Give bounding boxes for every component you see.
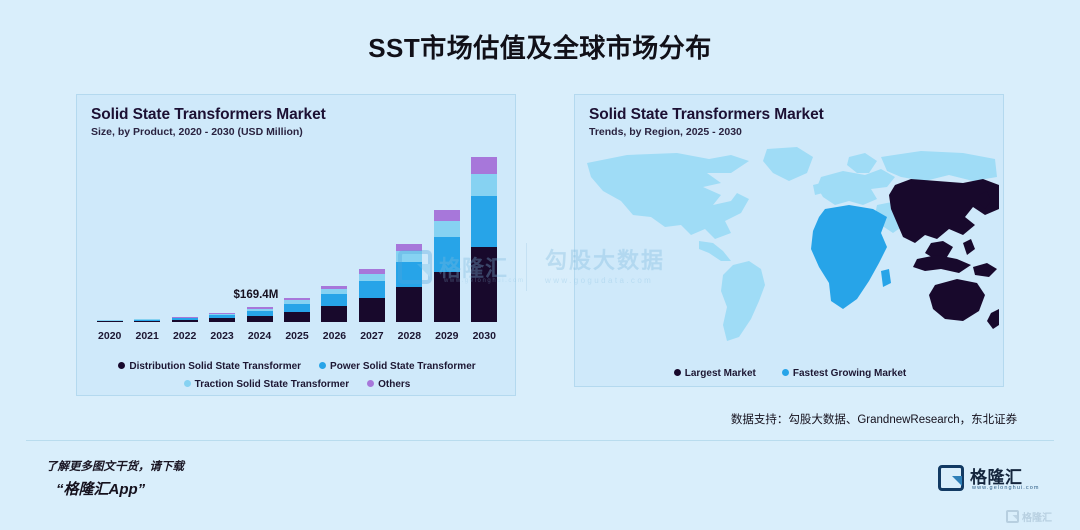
gelonghui-logo-icon <box>938 465 964 491</box>
legend-item: Largest Market <box>674 368 756 379</box>
map-region-scandinavia <box>847 153 877 173</box>
data-source-attribution: 数据支持：勾股大数据、GrandnewResearch，东北证券 <box>700 411 1048 427</box>
x-axis-tick-label: 2029 <box>430 330 464 342</box>
bar-segment <box>172 320 198 322</box>
bar-segment <box>209 318 235 322</box>
bar-column: 2028 <box>396 151 422 322</box>
bar-segment <box>434 272 460 322</box>
bar-segment <box>396 287 422 322</box>
x-axis-tick-label: 2022 <box>168 330 202 342</box>
legend-item-label: Traction Solid State Transformer <box>195 379 349 390</box>
bar-segment <box>284 312 310 322</box>
bar-column: 2022 <box>172 151 198 322</box>
legend-dot-icon <box>674 369 681 376</box>
x-axis-tick-label: 2021 <box>130 330 164 342</box>
map-region-indonesia <box>913 255 971 273</box>
bar-segment <box>471 196 497 246</box>
right-chart-title: Solid State Transformers Market <box>589 106 824 124</box>
bar-column: 2026 <box>321 151 347 322</box>
bar-segment <box>434 237 460 272</box>
x-axis-tick-label: 2020 <box>93 330 127 342</box>
map-region-new-zealand <box>987 309 999 329</box>
right-map-panel: Solid State Transformers Market Trends, … <box>574 94 1004 387</box>
bar-segment <box>434 221 460 236</box>
map-region-madagascar <box>881 269 891 287</box>
x-axis-tick-label: 2028 <box>392 330 426 342</box>
legend-dot-icon <box>319 362 326 369</box>
bar-column: 2025 <box>284 151 310 322</box>
left-chart-panel: Solid State Transformers Market Size, by… <box>76 94 516 396</box>
bar-segment <box>396 262 422 287</box>
map-region-russia <box>881 151 997 181</box>
bar-segment <box>471 174 497 196</box>
value-callout-label: $169.4M <box>234 289 279 301</box>
bar-stack <box>359 269 385 322</box>
left-chart-title: Solid State Transformers Market <box>91 106 326 124</box>
bar-stack <box>471 157 497 322</box>
gelonghui-logo-icon <box>1006 510 1019 523</box>
legend-dot-icon <box>367 380 374 387</box>
bar-stack <box>434 210 460 322</box>
legend-item-label: Largest Market <box>685 368 756 379</box>
bar-segment <box>471 157 497 174</box>
legend-item: Fastest Growing Market <box>782 368 906 379</box>
map-region-papua-new-guinea <box>973 263 997 277</box>
map-legend: Largest MarketFastest Growing Market <box>575 363 1005 381</box>
x-axis-tick-label: 2025 <box>280 330 314 342</box>
bar-column: 2029 <box>434 151 460 322</box>
bar-stack <box>247 307 273 322</box>
bar-column: 2027 <box>359 151 385 322</box>
bar-column: 2023 <box>209 151 235 322</box>
legend-item-label: Others <box>378 379 410 390</box>
bar-segment <box>359 298 385 322</box>
map-region-central-america <box>699 241 731 261</box>
map-region-australia <box>929 279 985 321</box>
bar-segment <box>97 321 123 322</box>
stacked-bar-chart: 2020202120222023202420252026202720282029… <box>91 151 503 344</box>
bar-segment <box>134 321 160 322</box>
page-title: SST市场估值及全球市场分布 <box>0 28 1080 65</box>
bar-stack <box>396 244 422 322</box>
bar-segment <box>434 210 460 221</box>
bar-segment <box>359 281 385 298</box>
map-region-greenland <box>763 147 813 181</box>
bar-stack <box>172 317 198 322</box>
footer-divider <box>26 440 1054 441</box>
bar-stack <box>321 286 347 322</box>
bar-segment <box>284 304 310 312</box>
x-axis-tick-label: 2023 <box>205 330 239 342</box>
watermark-divider <box>526 243 527 291</box>
map-region-africa <box>811 205 887 309</box>
footer-app-name: “格隆汇App” <box>56 478 145 499</box>
bar-segment <box>321 306 347 322</box>
legend-item-label: Distribution Solid State Transformer <box>129 361 301 372</box>
bar-segment <box>359 274 385 281</box>
bar-segment <box>247 316 273 322</box>
bar-column: 2021 <box>134 151 160 322</box>
brand-logo: 格隆汇 www.gelonghui.com <box>938 460 1050 496</box>
legend-item-label: Fastest Growing Market <box>793 368 906 379</box>
bar-column: 2020 <box>97 151 123 322</box>
legend-item: Traction Solid State Transformer <box>184 377 349 393</box>
x-axis-tick-label: 2024 <box>243 330 277 342</box>
bar-stack <box>209 313 235 322</box>
bar-column: 2030 <box>471 151 497 322</box>
map-region-north-america <box>587 153 749 239</box>
map-region-europe <box>817 169 895 205</box>
world-map-svg <box>581 143 999 343</box>
bar-segment <box>471 247 497 322</box>
legend-dot-icon <box>184 380 191 387</box>
world-map <box>581 143 999 343</box>
legend-item: Distribution Solid State Transformer <box>118 359 301 375</box>
bar-segment <box>321 294 347 306</box>
x-axis-tick-label: 2027 <box>355 330 389 342</box>
map-region-asia <box>889 179 999 243</box>
footer-promo-line: 了解更多图文干货，请下载 <box>46 458 184 474</box>
x-axis-tick-label: 2030 <box>467 330 501 342</box>
corner-watermark-name: 格隆汇 <box>1022 509 1052 524</box>
bar-segment <box>396 251 422 262</box>
bar-stack <box>134 319 160 322</box>
slide-canvas: SST市场估值及全球市场分布 Solid State Transformers … <box>0 0 1080 530</box>
brand-logo-url: www.gelonghui.com <box>972 485 1040 491</box>
bar-chart-legend: Distribution Solid State TransformerPowe… <box>77 357 517 393</box>
legend-dot-icon <box>118 362 125 369</box>
map-region-south-america <box>721 261 765 341</box>
corner-watermark: 格隆汇 <box>1006 505 1076 527</box>
legend-item: Power Solid State Transformer <box>319 359 476 375</box>
bar-stack <box>97 320 123 322</box>
legend-dot-icon <box>782 369 789 376</box>
legend-item: Others <box>367 377 410 393</box>
left-chart-subtitle: Size, by Product, 2020 - 2030 (USD Milli… <box>91 126 303 138</box>
bar-stack <box>284 298 310 322</box>
map-region-philippines <box>963 239 975 255</box>
right-chart-subtitle: Trends, by Region, 2025 - 2030 <box>589 126 742 138</box>
legend-item-label: Power Solid State Transformer <box>330 361 476 372</box>
x-axis-tick-label: 2026 <box>317 330 351 342</box>
bar-segment <box>396 244 422 252</box>
